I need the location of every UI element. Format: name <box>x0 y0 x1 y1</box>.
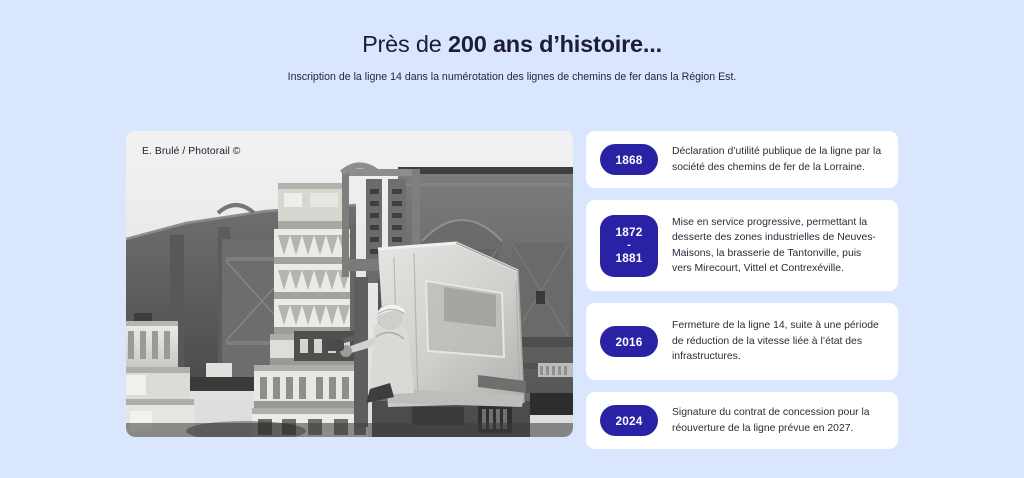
year-badge-2016: 2016 <box>600 326 658 357</box>
timeline-item-1872-1881[interactable]: 1872 - 1881 Mise en service progressive,… <box>586 200 898 291</box>
timeline-item-2024[interactable]: 2024 Signature du contrat de concession … <box>586 392 898 449</box>
history-section: Près de 200 ans d’histoire... Inscriptio… <box>0 0 1024 478</box>
timeline-item-text: Mise en service progressive, permettant … <box>672 215 882 277</box>
page-title-strong: 200 ans d’histoire... <box>448 31 662 57</box>
year-badge-start: 1872 <box>615 225 642 240</box>
timeline-item-text: Déclaration d’utilité publique de la lig… <box>672 144 882 175</box>
year-badge-1868: 1868 <box>600 144 658 175</box>
section-header: Près de 200 ans d’histoire... Inscriptio… <box>0 30 1024 85</box>
content-row: E. Brulé / Photorail © 1868 Déclaration … <box>126 131 898 437</box>
timeline-list: 1868 Déclaration d’utilité publique de l… <box>586 131 898 437</box>
year-badge-1872-1881: 1872 - 1881 <box>600 215 658 277</box>
year-badge-start: 1868 <box>615 153 642 167</box>
year-badge-end: 1881 <box>615 251 642 266</box>
historical-photo-panel: E. Brulé / Photorail © <box>126 131 573 437</box>
timeline-item-1868[interactable]: 1868 Déclaration d’utilité publique de l… <box>586 131 898 188</box>
year-badge-start: 2024 <box>615 414 642 428</box>
page-subtitle: Inscription de la ligne 14 dans la numér… <box>0 70 1024 85</box>
year-badge-start: 2016 <box>615 335 642 349</box>
timeline-item-text: Signature du contrat de concession pour … <box>672 405 882 436</box>
year-badge-dash: - <box>627 240 631 251</box>
page-title-regular: Près de <box>362 31 448 57</box>
timeline-item-2016[interactable]: 2016 Fermeture de la ligne 14, suite à u… <box>586 303 898 380</box>
historical-photo-image <box>126 131 573 437</box>
page-title: Près de 200 ans d’histoire... <box>0 30 1024 59</box>
photo-credit: E. Brulé / Photorail © <box>142 145 241 159</box>
year-badge-2024: 2024 <box>600 405 658 436</box>
timeline-item-text: Fermeture de la ligne 14, suite à une pé… <box>672 318 882 365</box>
